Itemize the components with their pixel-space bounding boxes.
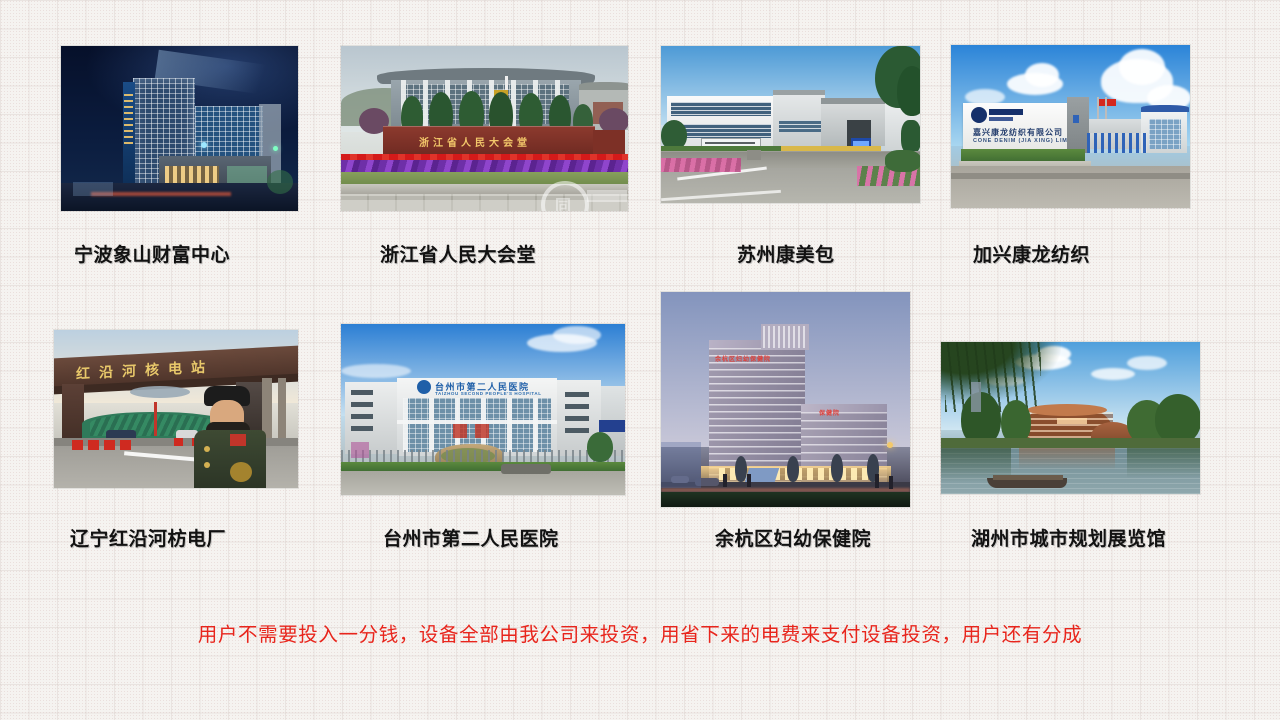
photo-watermark-2: 同: [555, 192, 573, 211]
project-photo-5[interactable]: 红沿河核电站: [54, 330, 298, 488]
slide-tagline: 用户不需要投入一分钱，设备全部由我公司来投资，用省下来的电费来支付设备投资，用户…: [0, 618, 1280, 647]
project-caption-2: 浙江省人民大会堂: [380, 240, 536, 267]
project-photo-1[interactable]: [61, 46, 298, 211]
project-caption-8: 湖州市城市规划展览馆: [971, 524, 1166, 551]
project-photo-3[interactable]: [661, 46, 920, 203]
project-caption-5: 辽宁红沿河枋电厂: [70, 524, 226, 551]
photo-sign-name-7: 余杭区妇幼保健院: [715, 354, 771, 363]
project-caption-3: 苏州康美包: [737, 240, 835, 267]
photo-sign-text-en-6: TAIZHOU SECOND PEOPLE'S HOSPITAL: [435, 391, 542, 396]
project-photo-4[interactable]: 嘉兴康龙纺织有限公司 CONE DENIM (JIA XING) LIMITED: [951, 45, 1190, 208]
project-gallery: 宁波象山财富中心: [0, 0, 1280, 720]
project-caption-1: 宁波象山财富中心: [74, 240, 230, 267]
project-photo-8[interactable]: [941, 342, 1200, 494]
project-photo-6[interactable]: 台州市第二人民医院 TAIZHOU SECOND PEOPLE'S HOSPIT…: [341, 324, 625, 495]
project-photo-7[interactable]: 余杭区妇幼保健院 保健院: [661, 292, 910, 507]
photo-sign-text-4: 嘉兴康龙纺织有限公司: [973, 127, 1063, 138]
project-photo-2[interactable]: 浙江省人民大会堂 同: [341, 46, 628, 211]
project-caption-6: 台州市第二人民医院: [383, 524, 559, 551]
project-caption-7: 余杭区妇幼保健院: [715, 524, 871, 551]
photo-sign-name-7b: 保健院: [819, 408, 840, 417]
photo-sign-text-2: 浙江省人民大会堂: [419, 134, 531, 149]
project-caption-4: 加兴康龙纺织: [973, 240, 1090, 267]
